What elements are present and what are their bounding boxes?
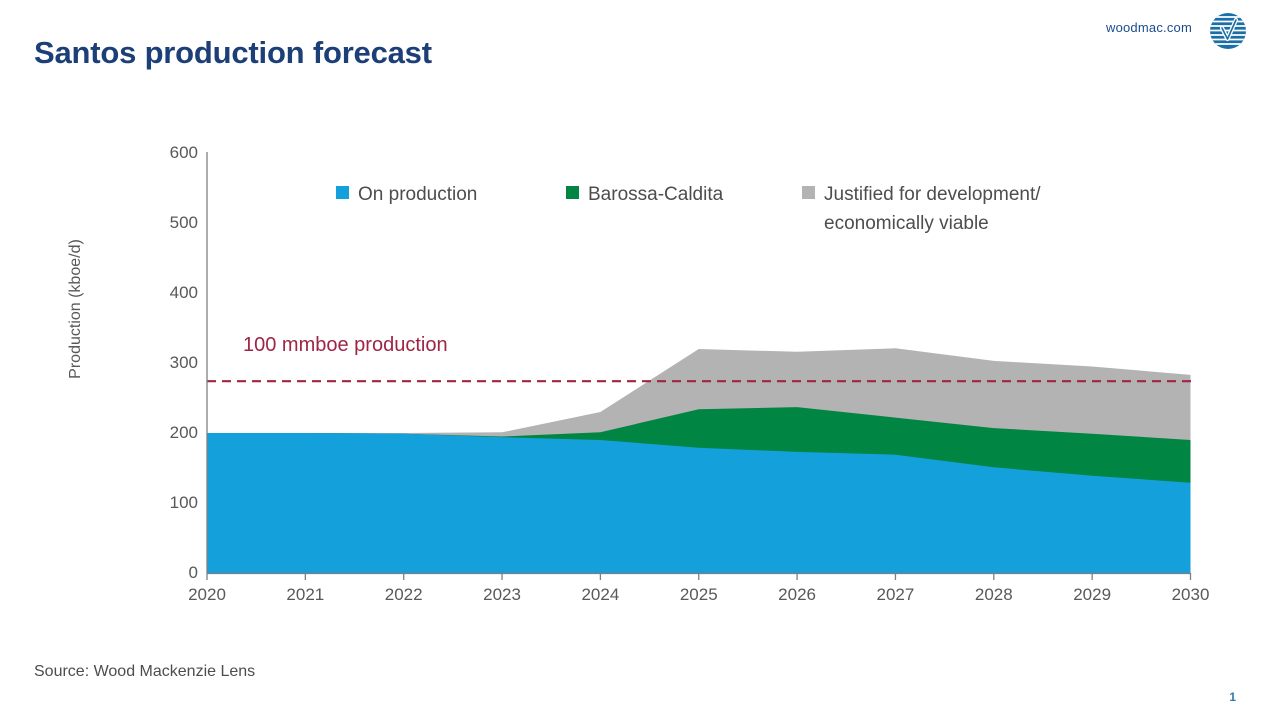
x-tick-2020: 2020: [167, 585, 247, 605]
legend-swatch-justified-for-development: [802, 186, 815, 199]
x-axis-tick-labels: 2020202120222023202420252026202720282029…: [0, 585, 1280, 615]
series-layer: [207, 348, 1191, 573]
legend-label-justified-for-development: Justified for development/ economically …: [824, 180, 1041, 238]
x-tick-2024: 2024: [560, 585, 640, 605]
x-tick-2023: 2023: [462, 585, 542, 605]
x-tick-2022: 2022: [364, 585, 444, 605]
legend-swatch-on-production: [336, 186, 349, 199]
chart-legend: On production Barossa-Caldita Justified …: [336, 180, 1136, 240]
x-tick-2021: 2021: [265, 585, 345, 605]
source-note: Source: Wood Mackenzie Lens: [34, 663, 255, 681]
legend-swatch-barossa-caldita: [566, 186, 579, 199]
legend-item-on-production[interactable]: On production: [336, 180, 477, 209]
legend-item-justified-for-development[interactable]: Justified for development/ economically …: [802, 180, 1102, 238]
x-tick-2026: 2026: [757, 585, 837, 605]
production-forecast-chart: Production (kboe/d) 600 500 400 300 200 …: [0, 0, 1280, 720]
legend-item-barossa-caldita[interactable]: Barossa-Caldita: [566, 180, 723, 209]
page-number: 1: [1229, 690, 1236, 704]
x-tick-2030: 2030: [1151, 585, 1231, 605]
x-tick-2028: 2028: [954, 585, 1034, 605]
legend-label-barossa-caldita: Barossa-Caldita: [588, 180, 723, 209]
x-tick-2027: 2027: [855, 585, 935, 605]
x-tick-2025: 2025: [659, 585, 739, 605]
threshold-annotation-label: 100 mmboe production: [243, 334, 448, 357]
x-tick-2029: 2029: [1052, 585, 1132, 605]
legend-label-on-production: On production: [358, 180, 477, 209]
